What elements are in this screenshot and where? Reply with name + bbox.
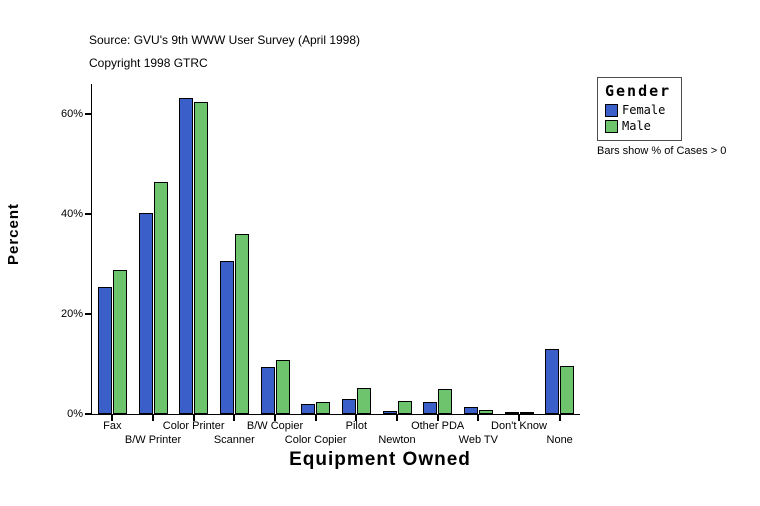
bar — [464, 407, 478, 415]
bar — [113, 270, 127, 414]
y-axis-tick-label: 60% — [61, 108, 83, 120]
bar — [220, 261, 234, 414]
x-axis-tick-label: Pilot — [346, 420, 367, 432]
x-axis-tick-label: Don't Know — [491, 420, 547, 432]
bar — [154, 182, 168, 415]
x-axis-tick — [233, 415, 235, 421]
y-axis-tick-label: 40% — [61, 208, 83, 220]
bar — [316, 402, 330, 414]
source-note: Source: GVU's 9th WWW User Survey (April… — [89, 33, 360, 47]
x-axis-tick-label: Fax — [103, 420, 121, 432]
x-axis-title: Equipment Owned — [0, 449, 760, 471]
legend-item: Female — [605, 103, 671, 117]
x-axis-tick-label: Color Printer — [163, 420, 225, 432]
bar — [139, 213, 153, 414]
bar — [235, 234, 249, 415]
y-axis-tick — [85, 413, 91, 415]
bar — [398, 401, 412, 414]
x-axis-line — [91, 414, 580, 415]
legend-swatch — [605, 120, 618, 133]
x-axis-tick — [315, 415, 317, 421]
bar — [276, 360, 290, 414]
x-axis-tick — [559, 415, 561, 421]
bar — [342, 399, 356, 415]
legend-title: Gender — [605, 82, 671, 100]
bar — [261, 367, 275, 415]
bar — [357, 388, 371, 414]
x-axis-tick-label: Color Copier — [285, 434, 347, 446]
legend-footnote: Bars show % of Cases > 0 — [597, 145, 726, 157]
legend-item-label: Female — [622, 103, 665, 117]
x-axis-tick-label: Newton — [378, 434, 415, 446]
copyright-note: Copyright 1998 GTRC — [89, 56, 208, 70]
x-axis-tick-label: Other PDA — [411, 420, 464, 432]
bar — [179, 98, 193, 415]
x-axis-tick — [152, 415, 154, 421]
legend-swatch — [605, 104, 618, 117]
y-axis-tick — [85, 213, 91, 215]
y-axis-title: Percent — [5, 203, 22, 265]
y-axis-tick — [85, 113, 91, 115]
x-axis-tick-label: None — [547, 434, 573, 446]
x-axis-tick-label: B/W Printer — [125, 434, 181, 446]
x-axis-tick — [477, 415, 479, 421]
y-axis-tick-label: 20% — [61, 308, 83, 320]
bar — [438, 389, 452, 415]
y-axis-tick — [85, 313, 91, 315]
legend-item-label: Male — [622, 119, 651, 133]
plot-area: 0%20%40%60% — [91, 84, 580, 415]
legend-item: Male — [605, 119, 671, 133]
bar — [98, 287, 112, 414]
bar — [194, 102, 208, 415]
bar — [479, 410, 493, 415]
x-axis-tick — [396, 415, 398, 421]
bar — [545, 349, 559, 414]
bar — [560, 366, 574, 414]
bar — [423, 402, 437, 415]
x-axis-tick-label: Scanner — [214, 434, 255, 446]
legend: Gender FemaleMale — [597, 77, 682, 141]
y-axis-tick-label: 0% — [67, 408, 83, 420]
bar — [520, 412, 534, 414]
bars-layer — [92, 84, 580, 414]
bar — [301, 404, 315, 414]
x-axis-tick-label: B/W Copier — [247, 420, 303, 432]
legend-entries: FemaleMale — [605, 103, 671, 133]
x-axis-tick-label: Web TV — [459, 434, 498, 446]
bar — [505, 412, 519, 414]
bar — [383, 411, 397, 415]
